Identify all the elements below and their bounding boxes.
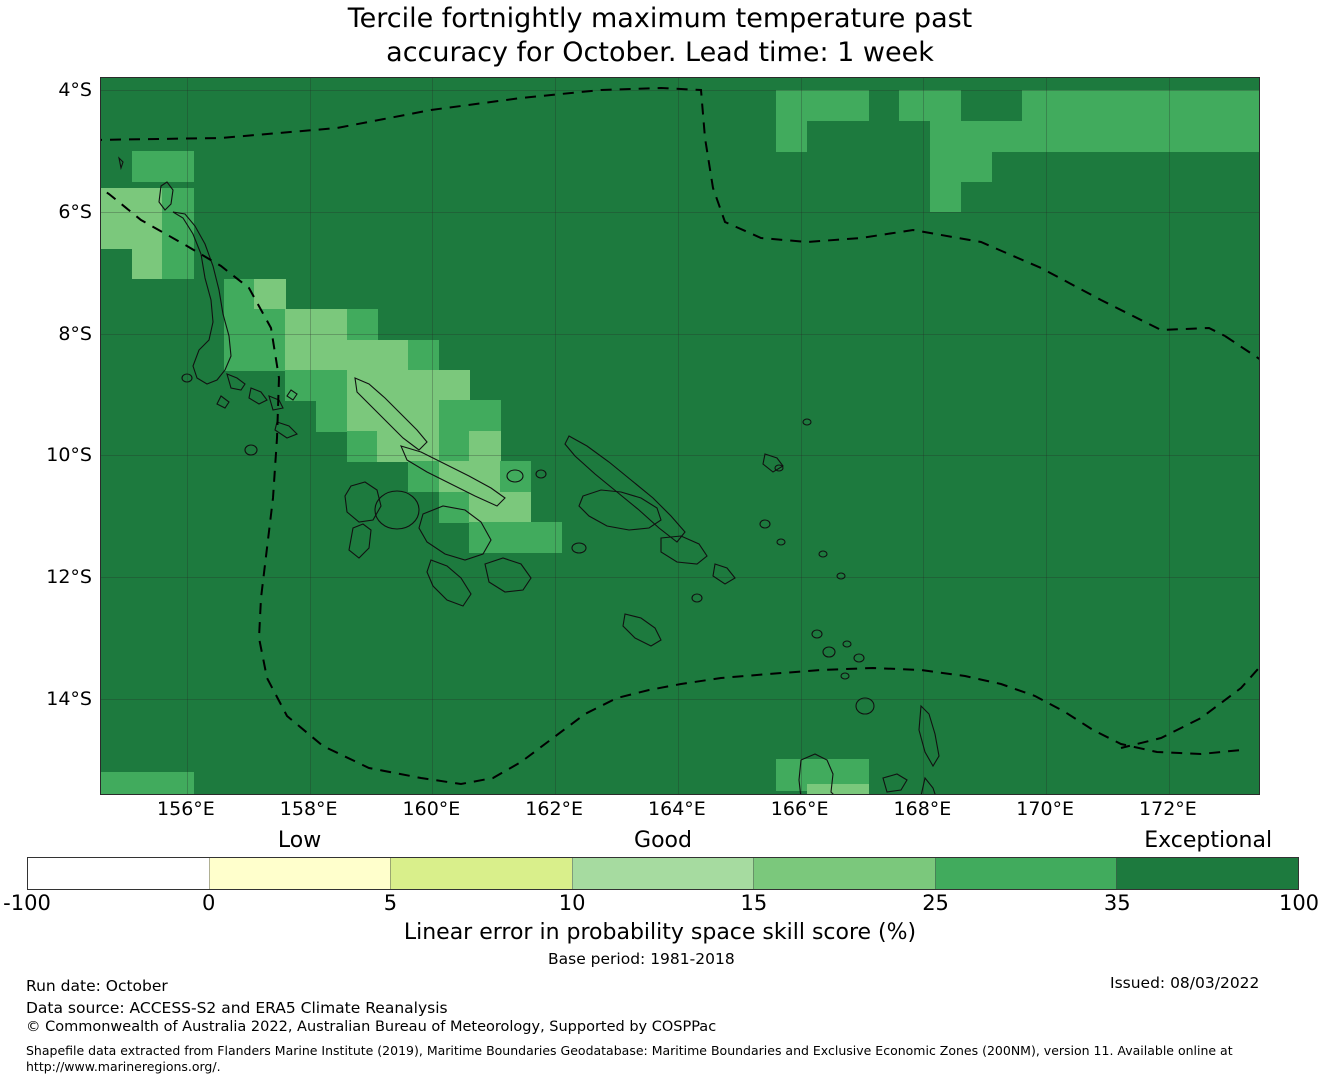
- colorbar-axis-label: Linear error in probability space skill …: [0, 920, 1320, 945]
- colorbar-tick-label: 15: [674, 891, 834, 915]
- longitude-tick-label: 168°E: [862, 798, 982, 820]
- colorbar-tick-label: 35: [1037, 891, 1197, 915]
- issued-date-text: Issued: 08/03/2022: [1110, 974, 1259, 992]
- latitude-tick-label: 14°S: [2, 688, 92, 710]
- page-title: Tercile fortnightly maximum temperature …: [0, 2, 1320, 70]
- longitude-tick-label: 156°E: [126, 798, 246, 820]
- colorbar-category-label: Good: [543, 828, 783, 853]
- run-date-text: Run date: October: [26, 977, 168, 995]
- longitude-tick-label: 162°E: [494, 798, 614, 820]
- colorbar-segment: [390, 858, 572, 889]
- colorbar-tick-labels: -1000510152535100: [0, 891, 1320, 919]
- eez-boundary-dashed: [101, 88, 1260, 784]
- longitude-tick-label: 164°E: [617, 798, 737, 820]
- map-plot-area[interactable]: [100, 77, 1260, 795]
- colorbar-segment: [753, 858, 935, 889]
- colorbar[interactable]: [27, 857, 1299, 890]
- latitude-tick-label: 8°S: [2, 323, 92, 345]
- latitude-tick-label: 4°S: [2, 79, 92, 101]
- coastline-paths: [119, 158, 941, 795]
- latitude-tick-label: 12°S: [2, 566, 92, 588]
- colorbar-segment: [28, 858, 209, 889]
- colorbar-segment: [935, 858, 1117, 889]
- colorbar-tick-label: -100: [0, 891, 107, 915]
- map-vector-overlay: [101, 78, 1260, 795]
- colorbar-tick-label: 100: [1219, 891, 1320, 915]
- colorbar-tick-label: 0: [129, 891, 289, 915]
- shapefile-attribution-text: Shapefile data extracted from Flanders M…: [26, 1043, 1233, 1075]
- colorbar-category-label: Exceptional: [1088, 828, 1320, 853]
- colorbar-category-labels: LowGoodExceptional: [0, 828, 1320, 854]
- colorbar-segment: [1116, 858, 1298, 889]
- longitude-tick-label: 158°E: [249, 798, 369, 820]
- base-period-text: Base period: 1981-2018: [548, 950, 735, 968]
- longitude-tick-label: 160°E: [371, 798, 491, 820]
- colorbar-segment: [572, 858, 754, 889]
- longitude-tick-label: 170°E: [985, 798, 1105, 820]
- latitude-tick-label: 10°S: [2, 444, 92, 466]
- colorbar-tick-label: 25: [856, 891, 1016, 915]
- latitude-tick-label: 6°S: [2, 201, 92, 223]
- copyright-text: © Commonwealth of Australia 2022, Austra…: [26, 1019, 716, 1035]
- colorbar-tick-label: 5: [310, 891, 470, 915]
- colorbar-tick-label: 10: [492, 891, 652, 915]
- data-source-text: Data source: ACCESS-S2 and ERA5 Climate …: [26, 999, 448, 1017]
- longitude-tick-label: 172°E: [1108, 798, 1228, 820]
- colorbar-segment: [209, 858, 391, 889]
- colorbar-category-label: Low: [180, 828, 420, 853]
- longitude-tick-label: 166°E: [740, 798, 860, 820]
